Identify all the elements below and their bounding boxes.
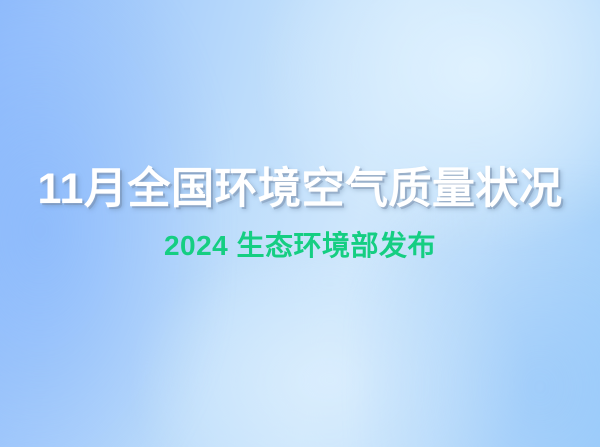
poster-title: 11月全国环境空气质量状况 [0, 168, 600, 211]
poster-subtitle: 2024 生态环境部发布 [0, 232, 600, 260]
poster-canvas: 11月全国环境空气质量状况 2024 生态环境部发布 [0, 0, 600, 447]
poster-content: 11月全国环境空气质量状况 2024 生态环境部发布 [0, 0, 600, 447]
